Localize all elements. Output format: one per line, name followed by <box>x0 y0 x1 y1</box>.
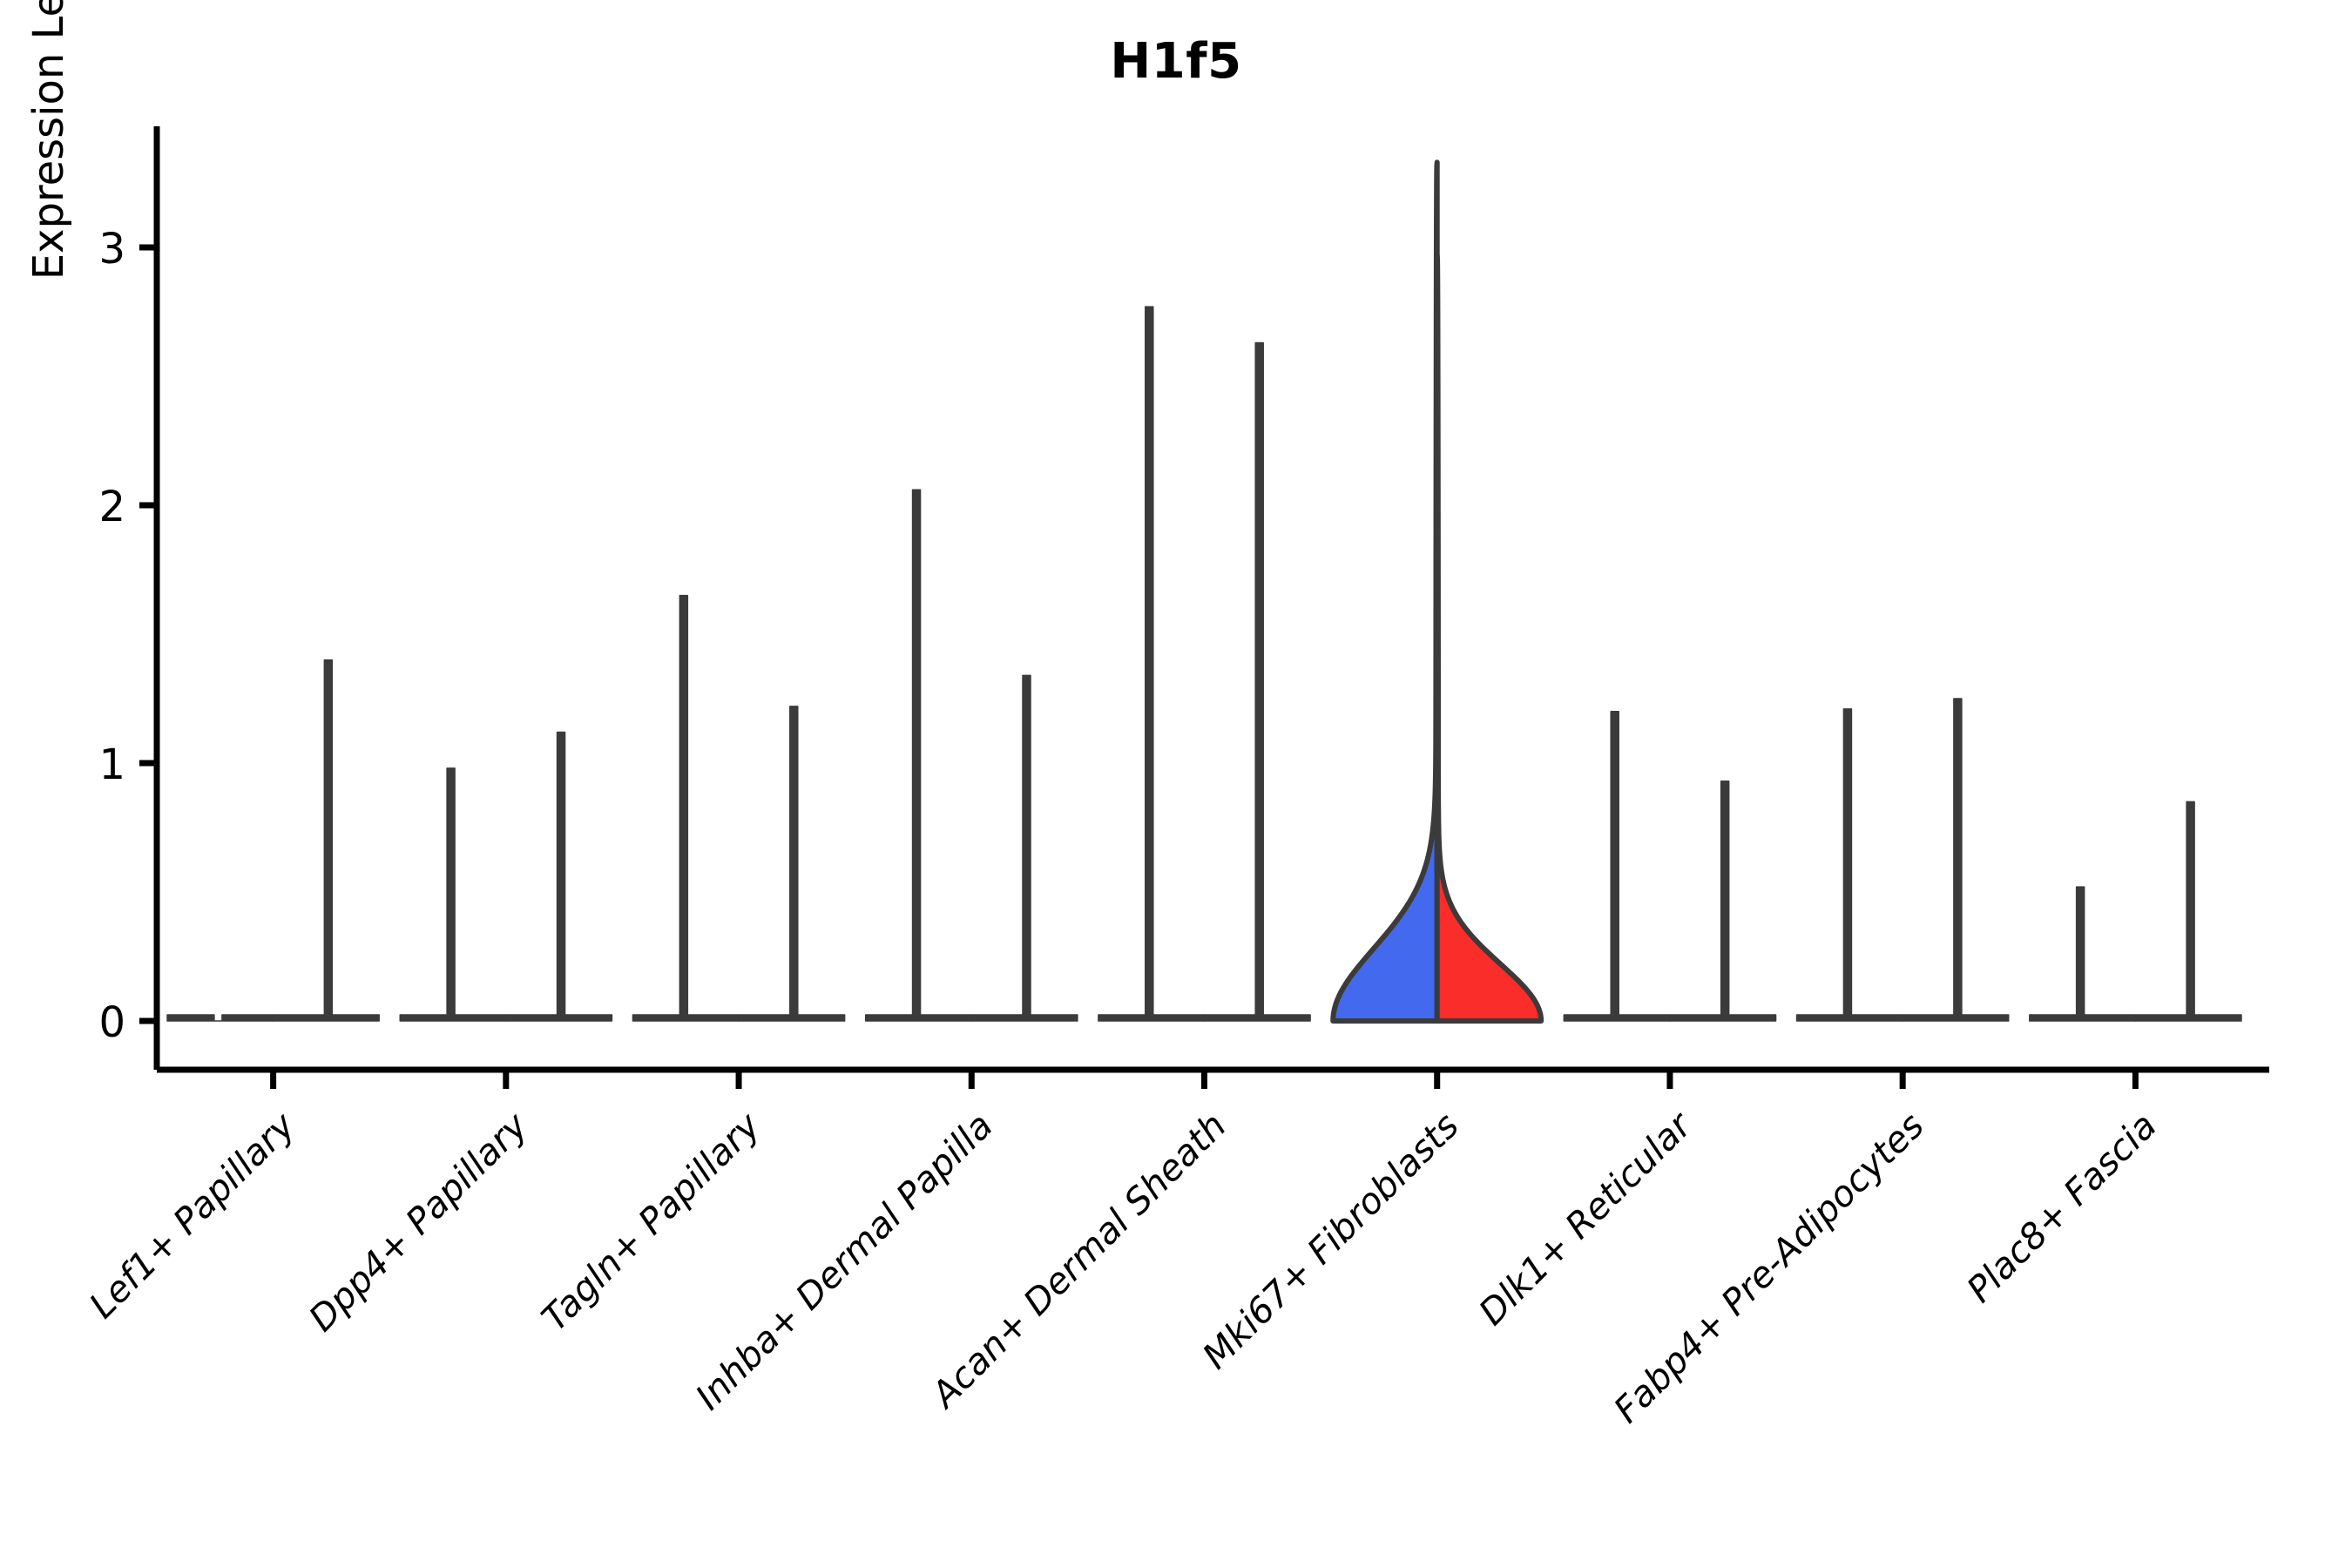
y-tick-label: 1 <box>98 740 125 789</box>
violin-group[interactable] <box>1564 712 1775 1021</box>
violin-half-left[interactable] <box>1333 162 1436 1021</box>
violin-group[interactable] <box>2030 801 2241 1021</box>
violin-half-left[interactable] <box>632 596 739 1021</box>
violin-half-right[interactable] <box>1437 255 1541 1021</box>
plot-canvas: 0123 <box>0 0 2352 1568</box>
violin-half-left[interactable] <box>2030 887 2136 1021</box>
violin-half-left[interactable] <box>1797 709 1903 1021</box>
violin-half-left[interactable] <box>1098 307 1205 1021</box>
violin-half-right[interactable] <box>274 660 380 1021</box>
y-tick-label: 0 <box>98 998 125 1047</box>
violin-half-left[interactable] <box>167 1015 274 1021</box>
violin-half-left[interactable] <box>400 768 506 1021</box>
violin-half-right[interactable] <box>1205 343 1311 1021</box>
violin-group[interactable] <box>1333 162 1541 1021</box>
violin-half-right[interactable] <box>1670 781 1776 1021</box>
violin-group[interactable] <box>866 490 1078 1021</box>
violin-half-right[interactable] <box>2135 801 2241 1021</box>
violin-half-left[interactable] <box>1564 712 1670 1021</box>
y-tick-label: 2 <box>98 483 125 531</box>
y-tick-label: 3 <box>98 225 125 274</box>
axes-group <box>139 126 2269 1089</box>
y-tick-labels: 0123 <box>98 225 125 1047</box>
violin-plot-figure: H1f5 Expression Level 0123 Lef1+ Papilla… <box>0 0 2352 1568</box>
violin-half-right[interactable] <box>971 675 1078 1021</box>
violins-group <box>167 162 2241 1021</box>
violin-group[interactable] <box>1797 699 2009 1021</box>
violin-half-left[interactable] <box>866 490 972 1021</box>
violin-half-right[interactable] <box>1903 699 2009 1021</box>
violin-group[interactable] <box>400 732 612 1021</box>
violin-group[interactable] <box>632 596 844 1021</box>
violin-group[interactable] <box>1098 307 1310 1021</box>
violin-half-right[interactable] <box>739 706 845 1021</box>
violin-group[interactable] <box>167 660 379 1021</box>
violin-half-right[interactable] <box>506 732 612 1021</box>
